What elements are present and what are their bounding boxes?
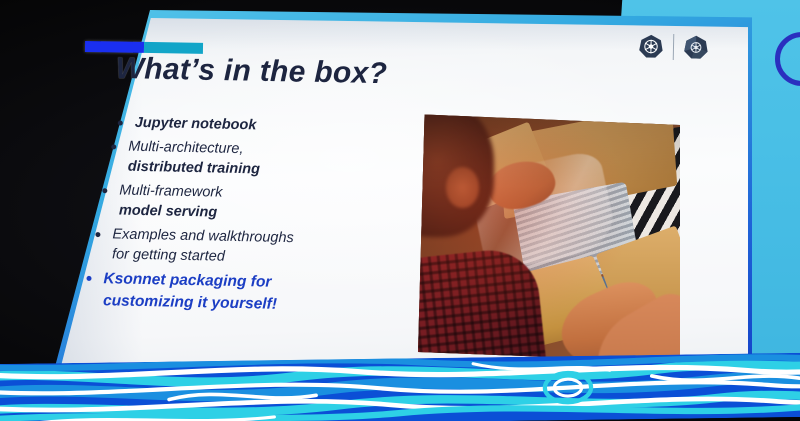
- bullet-point-icon: [118, 120, 123, 125]
- bullet-text: Examples and walkthroughs for getting st…: [112, 224, 294, 269]
- bullet-line: model serving: [119, 201, 223, 224]
- list-item: Examples and walkthroughs for getting st…: [95, 224, 414, 272]
- bullet-point-icon: [95, 232, 100, 237]
- bullet-text: Ksonnet packaging for customizing it you…: [103, 268, 278, 316]
- bullet-text: Jupyter notebook: [135, 113, 257, 136]
- bullet-line: for getting started: [112, 245, 294, 269]
- bullet-line: customizing it yourself!: [103, 290, 277, 316]
- list-item: Multi-architecture, distributed training: [111, 136, 416, 184]
- slide-title: What’s in the box?: [115, 52, 387, 91]
- bullet-line: Multi-architecture,: [128, 136, 261, 159]
- photo-person-ear: [446, 167, 479, 208]
- bullet-text: Multi-framework model serving: [119, 180, 223, 223]
- bullet-line: distributed training: [128, 157, 261, 180]
- bullet-list: Jupyter notebook Multi-architecture, dis…: [92, 112, 416, 322]
- bullet-point-icon: [111, 144, 116, 149]
- kubeflow-logo-icon: [683, 34, 710, 61]
- kubernetes-logo-icon: [638, 33, 665, 60]
- unboxing-photo: [418, 112, 680, 362]
- bullet-line: Multi-framework: [119, 180, 223, 203]
- logo-divider: [673, 34, 675, 60]
- bullet-text: Multi-architecture, distributed training: [128, 136, 261, 180]
- photo-content: [418, 112, 680, 362]
- bullet-point-icon: [86, 276, 91, 281]
- bullet-line: Jupyter notebook: [135, 113, 257, 136]
- list-item: Ksonnet packaging for customizing it you…: [86, 268, 413, 319]
- list-item: Multi-framework model serving: [102, 180, 415, 228]
- bullet-point-icon: [102, 188, 107, 193]
- screenshot-stage: What’s in the box?: [0, 0, 800, 421]
- blue-wave-pattern: [0, 353, 800, 421]
- logo-cluster: [638, 33, 710, 60]
- accent-bar-segment-blue: [85, 41, 144, 53]
